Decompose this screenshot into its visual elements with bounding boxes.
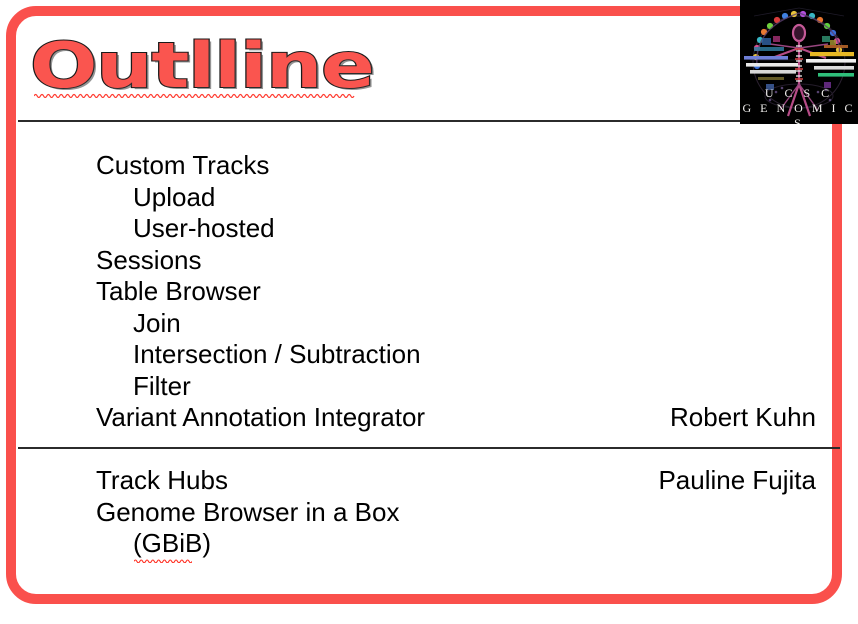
outline-item-upload: Upload <box>133 182 215 214</box>
outline-item-variant-annotation-integrator: Variant Annotation Integrator <box>96 402 425 434</box>
section-spacer <box>0 434 858 466</box>
outline-item-sessions: Sessions <box>96 245 202 277</box>
list-item: Track Hubs Pauline Fujita <box>0 465 858 497</box>
ucsc-genomics-logo: U C S C G E N O M I C S <box>740 0 858 124</box>
outline-content: Custom Tracks Upload User-hosted Session… <box>0 150 858 560</box>
list-item: Filter <box>0 371 858 403</box>
list-item: Custom Tracks <box>0 150 858 182</box>
list-item: Intersection / Subtraction <box>0 339 858 371</box>
list-item: Sessions <box>0 245 858 277</box>
outline-item-user-hosted: User-hosted <box>133 213 275 245</box>
outline-item-intersection-subtraction: Intersection / Subtraction <box>133 339 421 371</box>
page-title: Outlline <box>30 36 374 96</box>
list-item: Join <box>0 308 858 340</box>
list-item: Table Browser <box>0 276 858 308</box>
outline-item-track-hubs: Track Hubs <box>96 465 228 497</box>
presenter-pauline-fujita: Pauline Fujita <box>658 465 816 497</box>
outline-item-genome-browser-in-a-box: Genome Browser in a Box <box>96 497 399 529</box>
spellcheck-squiggle-title <box>34 92 356 98</box>
list-item: Upload <box>0 182 858 214</box>
slide-title-area: Outlline <box>30 36 298 98</box>
list-item: User-hosted <box>0 213 858 245</box>
list-item: (GBiB) <box>0 528 858 560</box>
presenter-robert-kuhn: Robert Kuhn <box>670 402 816 434</box>
outline-item-table-browser: Table Browser <box>96 276 261 308</box>
outline-item-gbib: (GBiB) <box>133 528 211 560</box>
outline-item-join: Join <box>133 308 181 340</box>
list-item: Genome Browser in a Box <box>0 497 858 529</box>
list-item: Variant Annotation Integrator Robert Kuh… <box>0 402 858 434</box>
logo-text-genomics: G E N O M I C S <box>740 101 858 124</box>
divider-top <box>18 120 740 122</box>
logo-text-ucsc: U C S C <box>740 86 858 101</box>
spellcheck-squiggle-gbib <box>134 558 192 563</box>
outline-item-gbib-label: (GBiB) <box>133 528 211 558</box>
outline-item-custom-tracks: Custom Tracks <box>96 150 269 182</box>
outline-item-filter: Filter <box>133 371 191 403</box>
slide-canvas: Outlline <box>0 0 858 624</box>
